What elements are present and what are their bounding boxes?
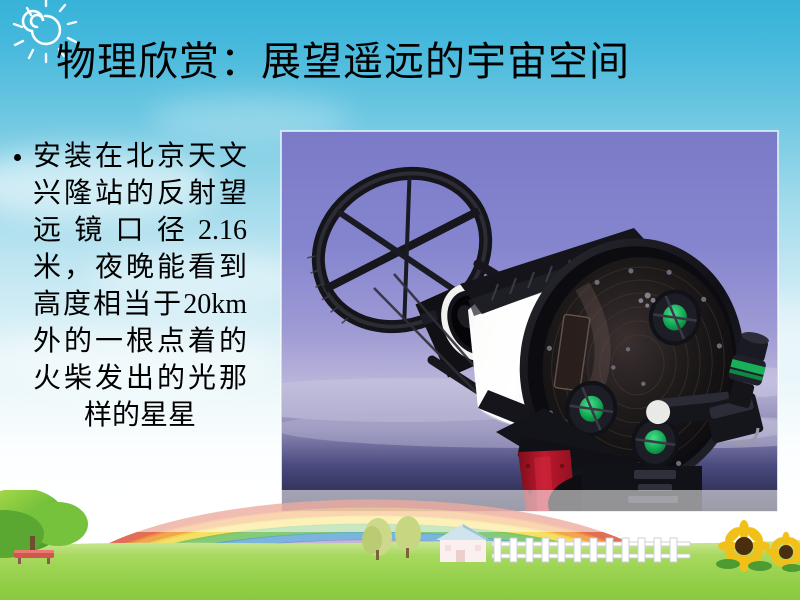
bullet-list: 安装在北京天文兴隆站的反射望远镜口径2.16米，夜晚能看到高度相当于20km外的… [14, 138, 270, 434]
page-title: 物理欣赏：展望遥远的宇宙空间 [56, 36, 776, 88]
slide-canvas: 物理欣赏：展望遥远的宇宙空间 安装在北京天文兴隆站的反射望远镜口径2.16米，夜… [0, 0, 800, 600]
bullet-marker-icon [14, 154, 21, 161]
grass-field [0, 540, 800, 600]
telescope-photo [281, 131, 778, 512]
scenery-strip [0, 490, 800, 600]
bullet-item-text: 安装在北京天文兴隆站的反射望远镜口径2.16米，夜晚能看到高度相当于20km外的… [33, 138, 247, 434]
